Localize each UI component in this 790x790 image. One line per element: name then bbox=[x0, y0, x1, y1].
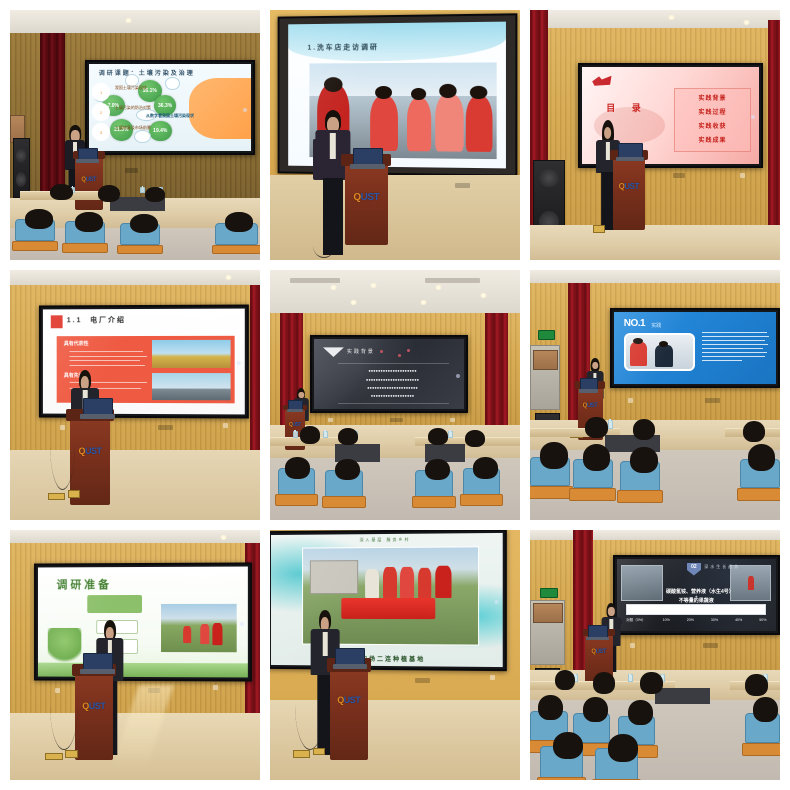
chart-x-axis: 对照（0%） 10% 20% 30% 40% 50% bbox=[626, 618, 766, 623]
slide-subtitle: 实践 bbox=[651, 322, 661, 329]
audience-head bbox=[538, 695, 563, 720]
audience-head bbox=[285, 457, 310, 479]
chart-plot-area bbox=[626, 604, 766, 616]
auditorium-scene-5: 实践背景 ●●●●●●●●●●●●●●●●●●●● ●●●●●●●●●●●●●●… bbox=[270, 270, 520, 520]
photo-cell-6[interactable]: NO.1 实践 bbox=[530, 270, 780, 520]
audience-head bbox=[50, 184, 73, 201]
auditorium-scene-1: 调研课题：土壤污染及治理 16.1% 7.0% 36.3% 21.3% 19.4… bbox=[10, 10, 260, 260]
facility-photo bbox=[621, 565, 662, 601]
slide-background-quote: 实践背景 ●●●●●●●●●●●●●●●●●●●● ●●●●●●●●●●●●●●… bbox=[314, 339, 464, 409]
slide-farm-base: 深入基层 服务乡村 五一农场二连种植基地 bbox=[271, 533, 503, 667]
audience-head bbox=[428, 428, 448, 445]
photo-cell-9[interactable]: 02 深水生长趋势 碳酸氢铵、营养液（水生4号） + 不等量的果蔬液 对照（0%… bbox=[530, 530, 780, 780]
cable-box bbox=[48, 493, 66, 501]
contents-item: 实践过程 bbox=[675, 107, 751, 116]
slide-title: 1.1 电厂介绍 bbox=[66, 315, 125, 325]
cable-box bbox=[68, 490, 81, 498]
list-number: 3 bbox=[92, 123, 110, 141]
audience-area bbox=[10, 185, 260, 260]
audience-head bbox=[425, 459, 450, 481]
podium: QUST bbox=[75, 670, 113, 760]
team-banner bbox=[341, 598, 435, 619]
body-heading: 具有代表性 bbox=[63, 340, 88, 347]
podium: QUST bbox=[345, 160, 388, 245]
slide-soil-infographic: 调研课题：土壤污染及治理 16.1% 7.0% 36.3% 21.3% 19.4… bbox=[89, 64, 251, 151]
section-label: 深水生长趋势 bbox=[704, 564, 740, 570]
axis-tick: 40% bbox=[735, 618, 742, 623]
audience-head bbox=[338, 428, 358, 445]
audience-head bbox=[335, 459, 360, 481]
podium-logo: QUST bbox=[82, 701, 105, 711]
cable-box bbox=[45, 753, 63, 761]
water-bottle bbox=[293, 431, 298, 438]
slide-growth-chart: 02 深水生长趋势 碳酸氢铵、营养液（水生4号） + 不等量的果蔬液 对照（0%… bbox=[617, 559, 777, 631]
audience-head bbox=[633, 419, 656, 440]
auditorium-scene-8: 深入基层 服务乡村 五一农场二连种植基地 bbox=[270, 530, 520, 780]
slide-title: 调研课题：土壤污染及治理 bbox=[99, 68, 195, 77]
list-item: 我国土壤污染现状 bbox=[115, 85, 147, 91]
audience-head bbox=[585, 417, 608, 438]
list-number: 1 bbox=[92, 83, 110, 101]
projection-screen-9[interactable]: 02 深水生长趋势 碳酸氢铵、营养液（水生4号） + 不等量的果蔬液 对照（0%… bbox=[613, 555, 781, 635]
podium-logo: QUST bbox=[591, 649, 606, 655]
auditorium-scene-9: 02 深水生长趋势 碳酸氢铵、营养液（水生4号） + 不等量的果蔬液 对照（0%… bbox=[530, 530, 780, 780]
water-bottle bbox=[608, 420, 613, 428]
slide-title: 调研准备 bbox=[56, 575, 111, 591]
photo-cell-5[interactable]: 实践背景 ●●●●●●●●●●●●●●●●●●●● ●●●●●●●●●●●●●●… bbox=[270, 270, 520, 520]
bubble-value: 19.4% bbox=[149, 121, 172, 142]
stage-curtain bbox=[768, 20, 781, 243]
projection-screen-8[interactable]: 深入基层 服务乡村 五一农场二连种植基地 bbox=[270, 530, 507, 671]
presenter-laptop bbox=[588, 625, 608, 638]
presenter-laptop bbox=[83, 398, 113, 416]
audience-head bbox=[753, 697, 778, 722]
audience-head bbox=[540, 442, 568, 468]
podium-logo: QUST bbox=[353, 192, 379, 203]
auditorium-scene-3: 目 录 实践背景 实践过程 实践收获 实践成果 bbox=[530, 10, 780, 260]
stage-curtain bbox=[40, 33, 65, 198]
stage-curtain bbox=[485, 313, 508, 426]
audience-head bbox=[593, 672, 616, 694]
stage-platform bbox=[530, 225, 780, 260]
audience-head bbox=[75, 212, 103, 232]
audience-head bbox=[300, 426, 320, 443]
podium-logo: QUST bbox=[583, 403, 598, 409]
audience-head bbox=[145, 187, 165, 202]
audience-head bbox=[555, 670, 575, 691]
audience-head bbox=[608, 734, 638, 762]
podium: QUST bbox=[613, 155, 646, 230]
stage-platform bbox=[10, 450, 260, 520]
photo-cell-4[interactable]: 1.1 电厂介绍 具有代表性 具有先进性 bbox=[10, 270, 260, 520]
cable-box bbox=[293, 750, 311, 758]
plant-photo bbox=[152, 373, 231, 400]
contents-item: 实践成果 bbox=[675, 135, 751, 144]
flow-header-box bbox=[87, 595, 141, 613]
audience-head bbox=[628, 700, 653, 725]
exit-sign bbox=[540, 588, 558, 598]
slide-paragraph bbox=[702, 332, 770, 364]
stage-platform bbox=[270, 175, 520, 260]
slide-title: 实践背景 bbox=[347, 348, 375, 355]
cable-box bbox=[593, 225, 606, 233]
ceiling bbox=[10, 10, 260, 33]
presenter-laptop bbox=[353, 148, 383, 166]
audience-area bbox=[270, 430, 520, 520]
slide-no1: NO.1 实践 bbox=[614, 312, 776, 384]
photo-cell-1[interactable]: 调研课题：土壤污染及治理 16.1% 7.0% 36.3% 21.3% 19.4… bbox=[10, 10, 260, 260]
podium-logo: QUST bbox=[619, 182, 639, 191]
audience-head bbox=[130, 214, 158, 234]
slide-title: 目 录 bbox=[606, 101, 648, 114]
team-photo bbox=[624, 333, 695, 370]
contents-item: 实践收获 bbox=[675, 121, 751, 130]
slide-center-label: 从数字看我国土壤污染现状 bbox=[146, 113, 194, 119]
projection-screen-6[interactable]: NO.1 实践 bbox=[610, 308, 780, 388]
audience-head bbox=[583, 697, 608, 722]
projection-screen-7[interactable]: 调研准备 bbox=[34, 562, 251, 681]
contents-item: 实践背景 bbox=[675, 93, 751, 102]
audience-head bbox=[745, 674, 768, 696]
audience-head bbox=[743, 421, 766, 442]
podium-logo: QUST bbox=[81, 177, 96, 183]
field-photo bbox=[160, 604, 236, 653]
list-number: 2 bbox=[92, 103, 110, 121]
audience-head bbox=[25, 209, 53, 229]
photo-grid: 调研课题：土壤污染及治理 16.1% 7.0% 36.3% 21.3% 19.4… bbox=[0, 0, 790, 790]
presenter-laptop bbox=[580, 378, 598, 391]
presenter-laptop bbox=[288, 400, 303, 410]
audience-head bbox=[225, 212, 253, 232]
audience-area bbox=[530, 665, 780, 780]
photo-cell-3[interactable]: 目 录 实践背景 实践过程 实践收获 实践成果 bbox=[530, 10, 780, 260]
list-item: 土壤修复及市场前景 bbox=[115, 125, 151, 131]
section-marker bbox=[50, 316, 62, 328]
grass-illustration bbox=[37, 663, 246, 677]
photo-cell-7[interactable]: 调研准备 bbox=[10, 530, 260, 780]
audience-head bbox=[630, 447, 658, 473]
contents-panel: 实践背景 实践过程 实践收获 实践成果 bbox=[674, 88, 752, 152]
auditorium-scene-4: 1.1 电厂介绍 具有代表性 具有先进性 bbox=[10, 270, 260, 520]
slide-blob bbox=[189, 78, 251, 139]
photo-cell-2[interactable]: 1.洗车店走访调研 bbox=[270, 10, 520, 260]
axis-tick: 20% bbox=[687, 618, 694, 623]
audience-head bbox=[473, 457, 498, 479]
audience-head bbox=[465, 430, 485, 447]
audience-head bbox=[583, 444, 611, 470]
tree-illustration bbox=[48, 628, 81, 665]
audience-area bbox=[530, 415, 780, 520]
water-bottle bbox=[323, 431, 328, 438]
slide-title: NO.1 bbox=[624, 318, 645, 329]
wall-vent bbox=[455, 183, 470, 188]
audience-head bbox=[553, 732, 583, 760]
list-item: 土壤污染的防治对策 bbox=[115, 105, 151, 111]
podium: QUST bbox=[330, 665, 368, 760]
photo-cell-8[interactable]: 深入基层 服务乡村 五一农场二连种植基地 bbox=[270, 530, 520, 780]
audience-head bbox=[640, 672, 663, 694]
wall-window bbox=[533, 603, 563, 623]
party-emblem-icon bbox=[590, 73, 613, 89]
auditorium-scene-7: 调研准备 bbox=[10, 530, 260, 780]
auditorium-scene-6: NO.1 实践 bbox=[530, 270, 780, 520]
podium-logo: QUST bbox=[78, 446, 101, 456]
cable-box bbox=[65, 750, 78, 758]
audience-head bbox=[98, 185, 121, 202]
projection-screen-5[interactable]: 实践背景 ●●●●●●●●●●●●●●●●●●●● ●●●●●●●●●●●●●●… bbox=[310, 335, 468, 413]
presenter-laptop bbox=[335, 648, 365, 666]
axis-tick: 10% bbox=[663, 618, 670, 623]
cable-box bbox=[313, 748, 326, 756]
presenter-laptop bbox=[78, 148, 98, 161]
projection-screen-1[interactable]: 调研课题：土壤污染及治理 16.1% 7.0% 36.3% 21.3% 19.4… bbox=[85, 60, 255, 155]
axis-tick: 30% bbox=[711, 618, 718, 623]
downlight-icon bbox=[125, 18, 132, 23]
presenter-laptop bbox=[83, 653, 113, 671]
axis-tick: 50% bbox=[759, 618, 766, 623]
facility-photo bbox=[730, 565, 771, 601]
water-bottle bbox=[448, 431, 453, 438]
presenter-laptop bbox=[618, 143, 643, 158]
slide-title: 1.洗车店走访调研 bbox=[307, 42, 378, 53]
slide-research-prep: 调研准备 bbox=[37, 566, 246, 676]
auditorium-scene-2: 1.洗车店走访调研 bbox=[270, 10, 520, 260]
wall-window bbox=[533, 350, 558, 370]
podium-logo: QUST bbox=[289, 422, 301, 428]
wall-vent bbox=[125, 168, 138, 173]
axis-tick: 对照（0%） bbox=[626, 618, 646, 623]
exit-sign bbox=[538, 330, 556, 340]
water-bottle bbox=[628, 674, 633, 682]
podium-logo: QUST bbox=[337, 695, 360, 705]
audience-head bbox=[748, 444, 776, 470]
section-badge: 02 bbox=[687, 563, 701, 576]
plant-photo bbox=[152, 340, 231, 368]
